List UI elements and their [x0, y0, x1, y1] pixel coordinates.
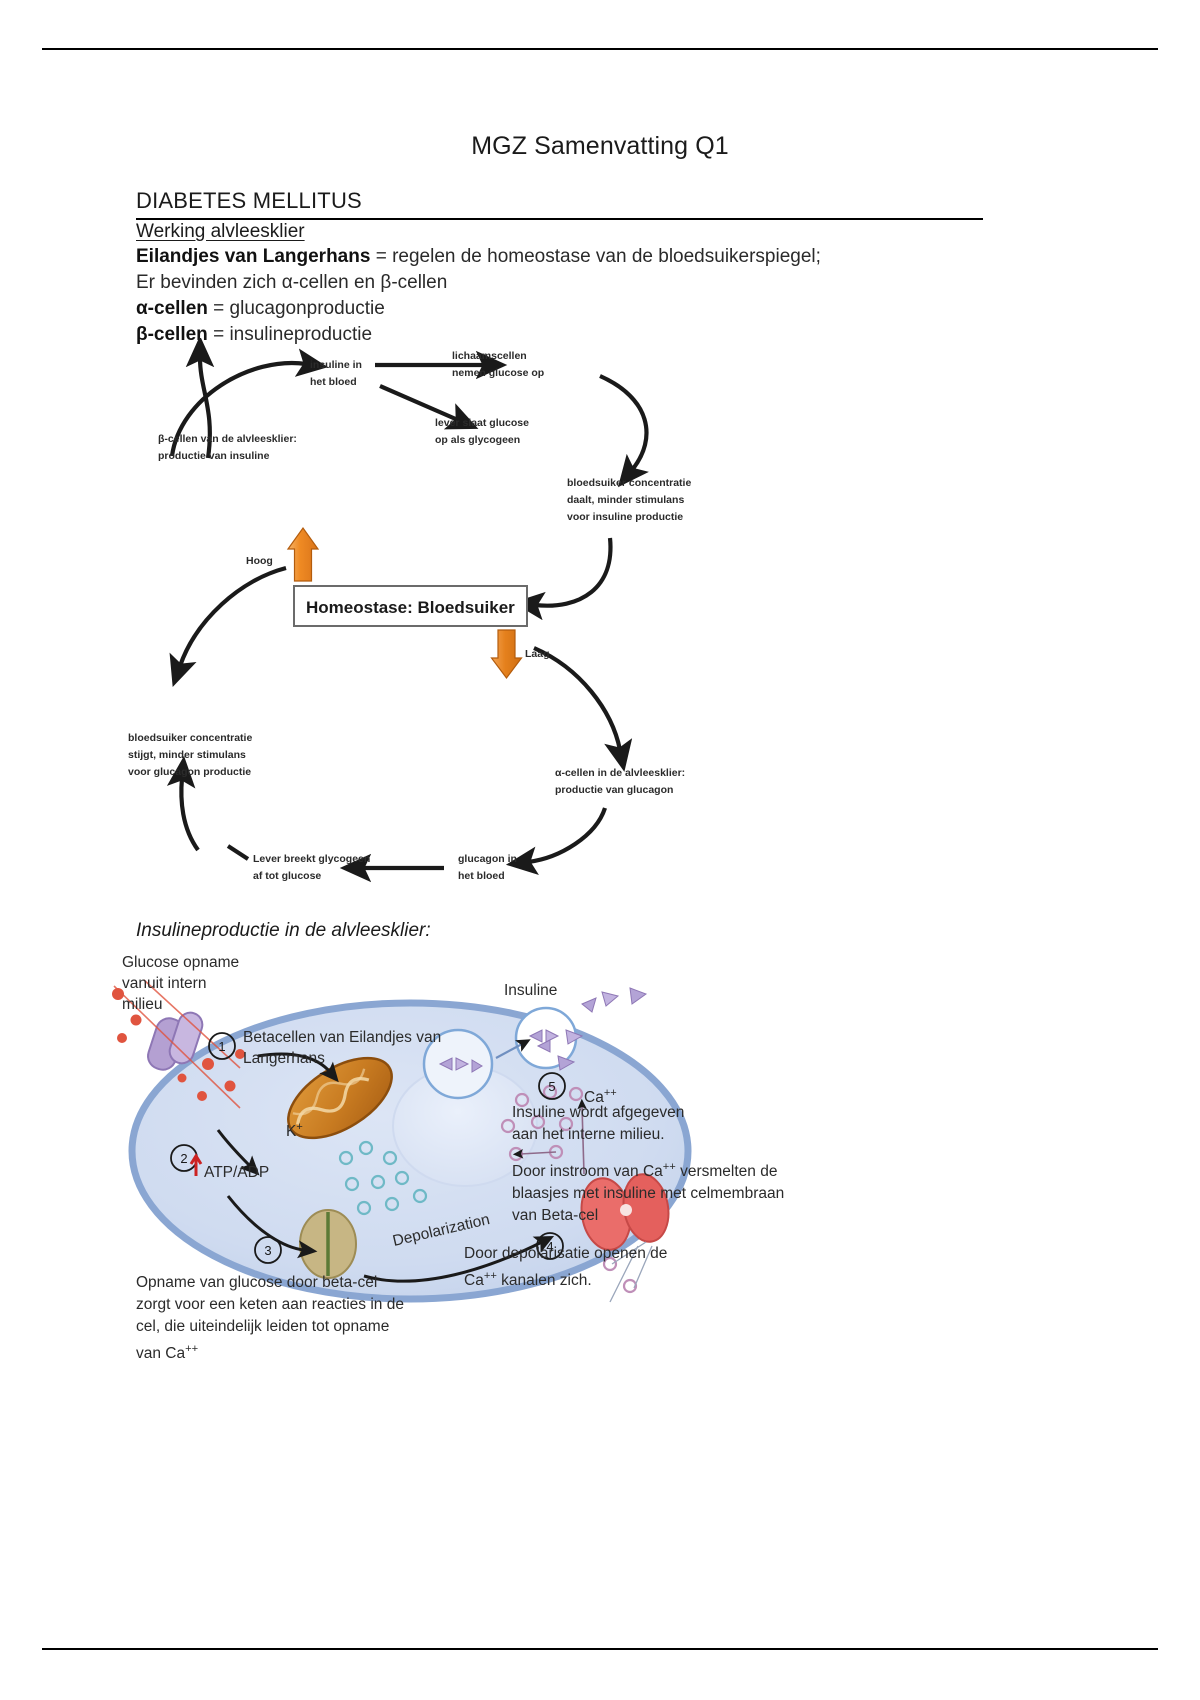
svg-text:het bloed: het bloed	[458, 870, 505, 882]
svg-text:het bloed: het bloed	[310, 376, 357, 388]
svg-text:ATP/ADP: ATP/ADP	[204, 1164, 269, 1181]
svg-text:glucagon in: glucagon in	[458, 853, 517, 865]
arrow-bodycells-to-sugardrop	[600, 376, 646, 470]
svg-text:Lever breekt glycogeen: Lever breekt glycogeen	[253, 853, 370, 865]
node-sugar-concentration-drops: bloedsuiker concentratie daalt, minder s…	[567, 477, 691, 523]
node-sugar-concentration-rises: bloedsuiker concentratie stijgt, minder …	[128, 732, 252, 778]
body-line-1: Eilandjes van Langerhans = regelen de ho…	[136, 246, 821, 268]
svg-text:5: 5	[548, 1079, 555, 1094]
term-alpha-cellen: α-cellen	[136, 298, 208, 319]
footer-rule	[42, 1648, 1158, 1650]
note-calcium-influx: Door instroom van Ca++ versmelten de bla…	[512, 1100, 802, 1227]
note-glucose-uptake: Glucose opname vanuit intern milieu	[122, 952, 292, 1015]
svg-text:lichaamscellen: lichaamscellen	[452, 350, 527, 362]
label-laag: Laag	[525, 648, 550, 660]
svg-text:β-cellen van de alvleesklier:: β-cellen van de alvleesklier:	[158, 433, 297, 445]
orange-down-arrow	[492, 630, 522, 678]
arrow-insulin-to-liver	[380, 386, 458, 420]
arrow-center-to-sugarrise	[180, 568, 286, 666]
header-rule	[42, 48, 1158, 50]
svg-text:3: 3	[264, 1243, 271, 1258]
svg-text:lever slaat glucose: lever slaat glucose	[435, 417, 529, 429]
node-glucagon-in-blood: glucagon in het bloed	[458, 853, 517, 882]
homeostase-box-label: Homeostase: Bloedsuiker	[306, 598, 515, 617]
note-betacellen-langerhans: Betacellen van Eilandjes van Langerhans	[243, 1027, 473, 1069]
body-line-1-rest: = regelen de homeostase van de bloedsuik…	[370, 246, 821, 267]
page-title: MGZ Samenvatting Q1	[0, 132, 1200, 161]
orange-up-arrow	[288, 528, 318, 581]
body-line-2: Er bevinden zich α-cellen en β-cellen	[136, 272, 447, 294]
document-page: MGZ Samenvatting Q1 DIABETES MELLITUS We…	[0, 0, 1200, 1700]
figure-caption-insulineproductie: Insulineproductie in de alvleesklier:	[136, 920, 431, 942]
svg-text:insuline in: insuline in	[310, 359, 362, 371]
svg-text:productie van insuline: productie van insuline	[158, 450, 270, 462]
node-liver-stores-glycogen: lever slaat glucose op als glycogeen	[435, 417, 529, 446]
svg-text:stijgt, minder stimulans: stijgt, minder stimulans	[128, 749, 246, 761]
label-insuline: Insuline	[504, 982, 557, 1000]
node-alpha-cells: α-cellen in de alvleesklier: productie v…	[555, 767, 685, 796]
svg-text:voor insuline productie: voor insuline productie	[567, 511, 683, 523]
svg-text:1: 1	[218, 1039, 225, 1054]
svg-text:op als glycogeen: op als glycogeen	[435, 434, 520, 446]
svg-text:2: 2	[180, 1151, 187, 1166]
svg-text:daalt, minder stimulans: daalt, minder stimulans	[567, 494, 684, 506]
svg-text:voor glucagon productie: voor glucagon productie	[128, 766, 251, 778]
arrow-sugardrop-to-center	[535, 538, 610, 606]
homeostasis-loop-diagram: Homeostase: Bloedsuiker Hoog Laag β-cell…	[110, 338, 850, 908]
term-eilandjes-van-langerhans: Eilandjes van Langerhans	[136, 246, 370, 267]
svg-text:bloedsuiker concentratie: bloedsuiker concentratie	[567, 477, 691, 489]
arrow-liverbreak-tail	[228, 846, 248, 859]
body-line-3: α-cellen = glucagonproductie	[136, 298, 385, 320]
svg-text:bloedsuiker concentratie: bloedsuiker concentratie	[128, 732, 252, 744]
note-glucose-uptake-chain: Opname van glucose door beta-cel zorgt v…	[136, 1272, 536, 1365]
node-beta-cells: β-cellen van de alvleesklier: productie …	[158, 433, 297, 462]
section-divider	[136, 218, 983, 220]
subheading-werking-alvleesklier: Werking alvleesklier	[136, 221, 305, 243]
svg-text:α-cellen in de alvleesklier:: α-cellen in de alvleesklier:	[555, 767, 685, 779]
svg-text:af tot glucose: af tot glucose	[253, 870, 321, 882]
node-liver-breaks-glycogen: Lever breekt glycogeen af tot glucose	[253, 853, 370, 882]
svg-text:nemen glucose op: nemen glucose op	[452, 367, 544, 379]
arrow-liverbreak-to-sugarrise	[181, 778, 198, 850]
body-line-3-rest: = glucagonproductie	[208, 298, 385, 319]
potassium-channel	[300, 1210, 356, 1278]
label-hoog: Hoog	[246, 555, 273, 567]
section-heading: DIABETES MELLITUS	[136, 188, 362, 214]
arrow-alphacells-to-glucagon	[528, 808, 605, 862]
svg-text:productie van glucagon: productie van glucagon	[555, 784, 673, 796]
arrow-low-to-alphacells	[534, 648, 620, 750]
node-insulin-in-blood: insuline in het bloed	[310, 359, 362, 388]
